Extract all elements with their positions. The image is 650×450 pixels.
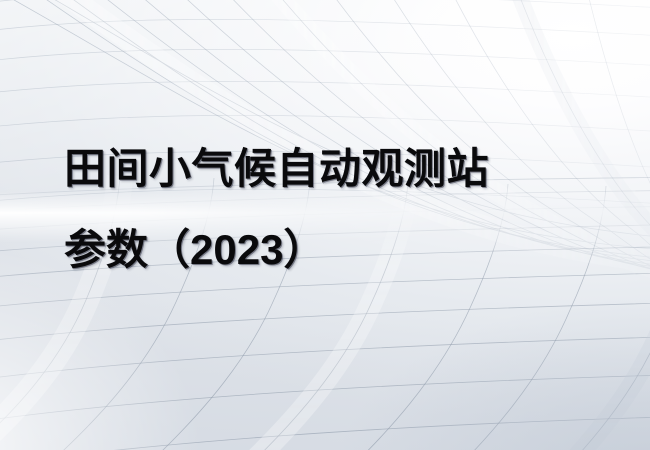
- title-slide: 田间小气候自动观测站 参数（2023）: [0, 0, 650, 450]
- slide-title: 田间小气候自动观测站 参数（2023）: [64, 128, 604, 290]
- title-line-2: 参数（2023）: [64, 209, 604, 290]
- title-line-1: 田间小气候自动观测站: [64, 128, 604, 209]
